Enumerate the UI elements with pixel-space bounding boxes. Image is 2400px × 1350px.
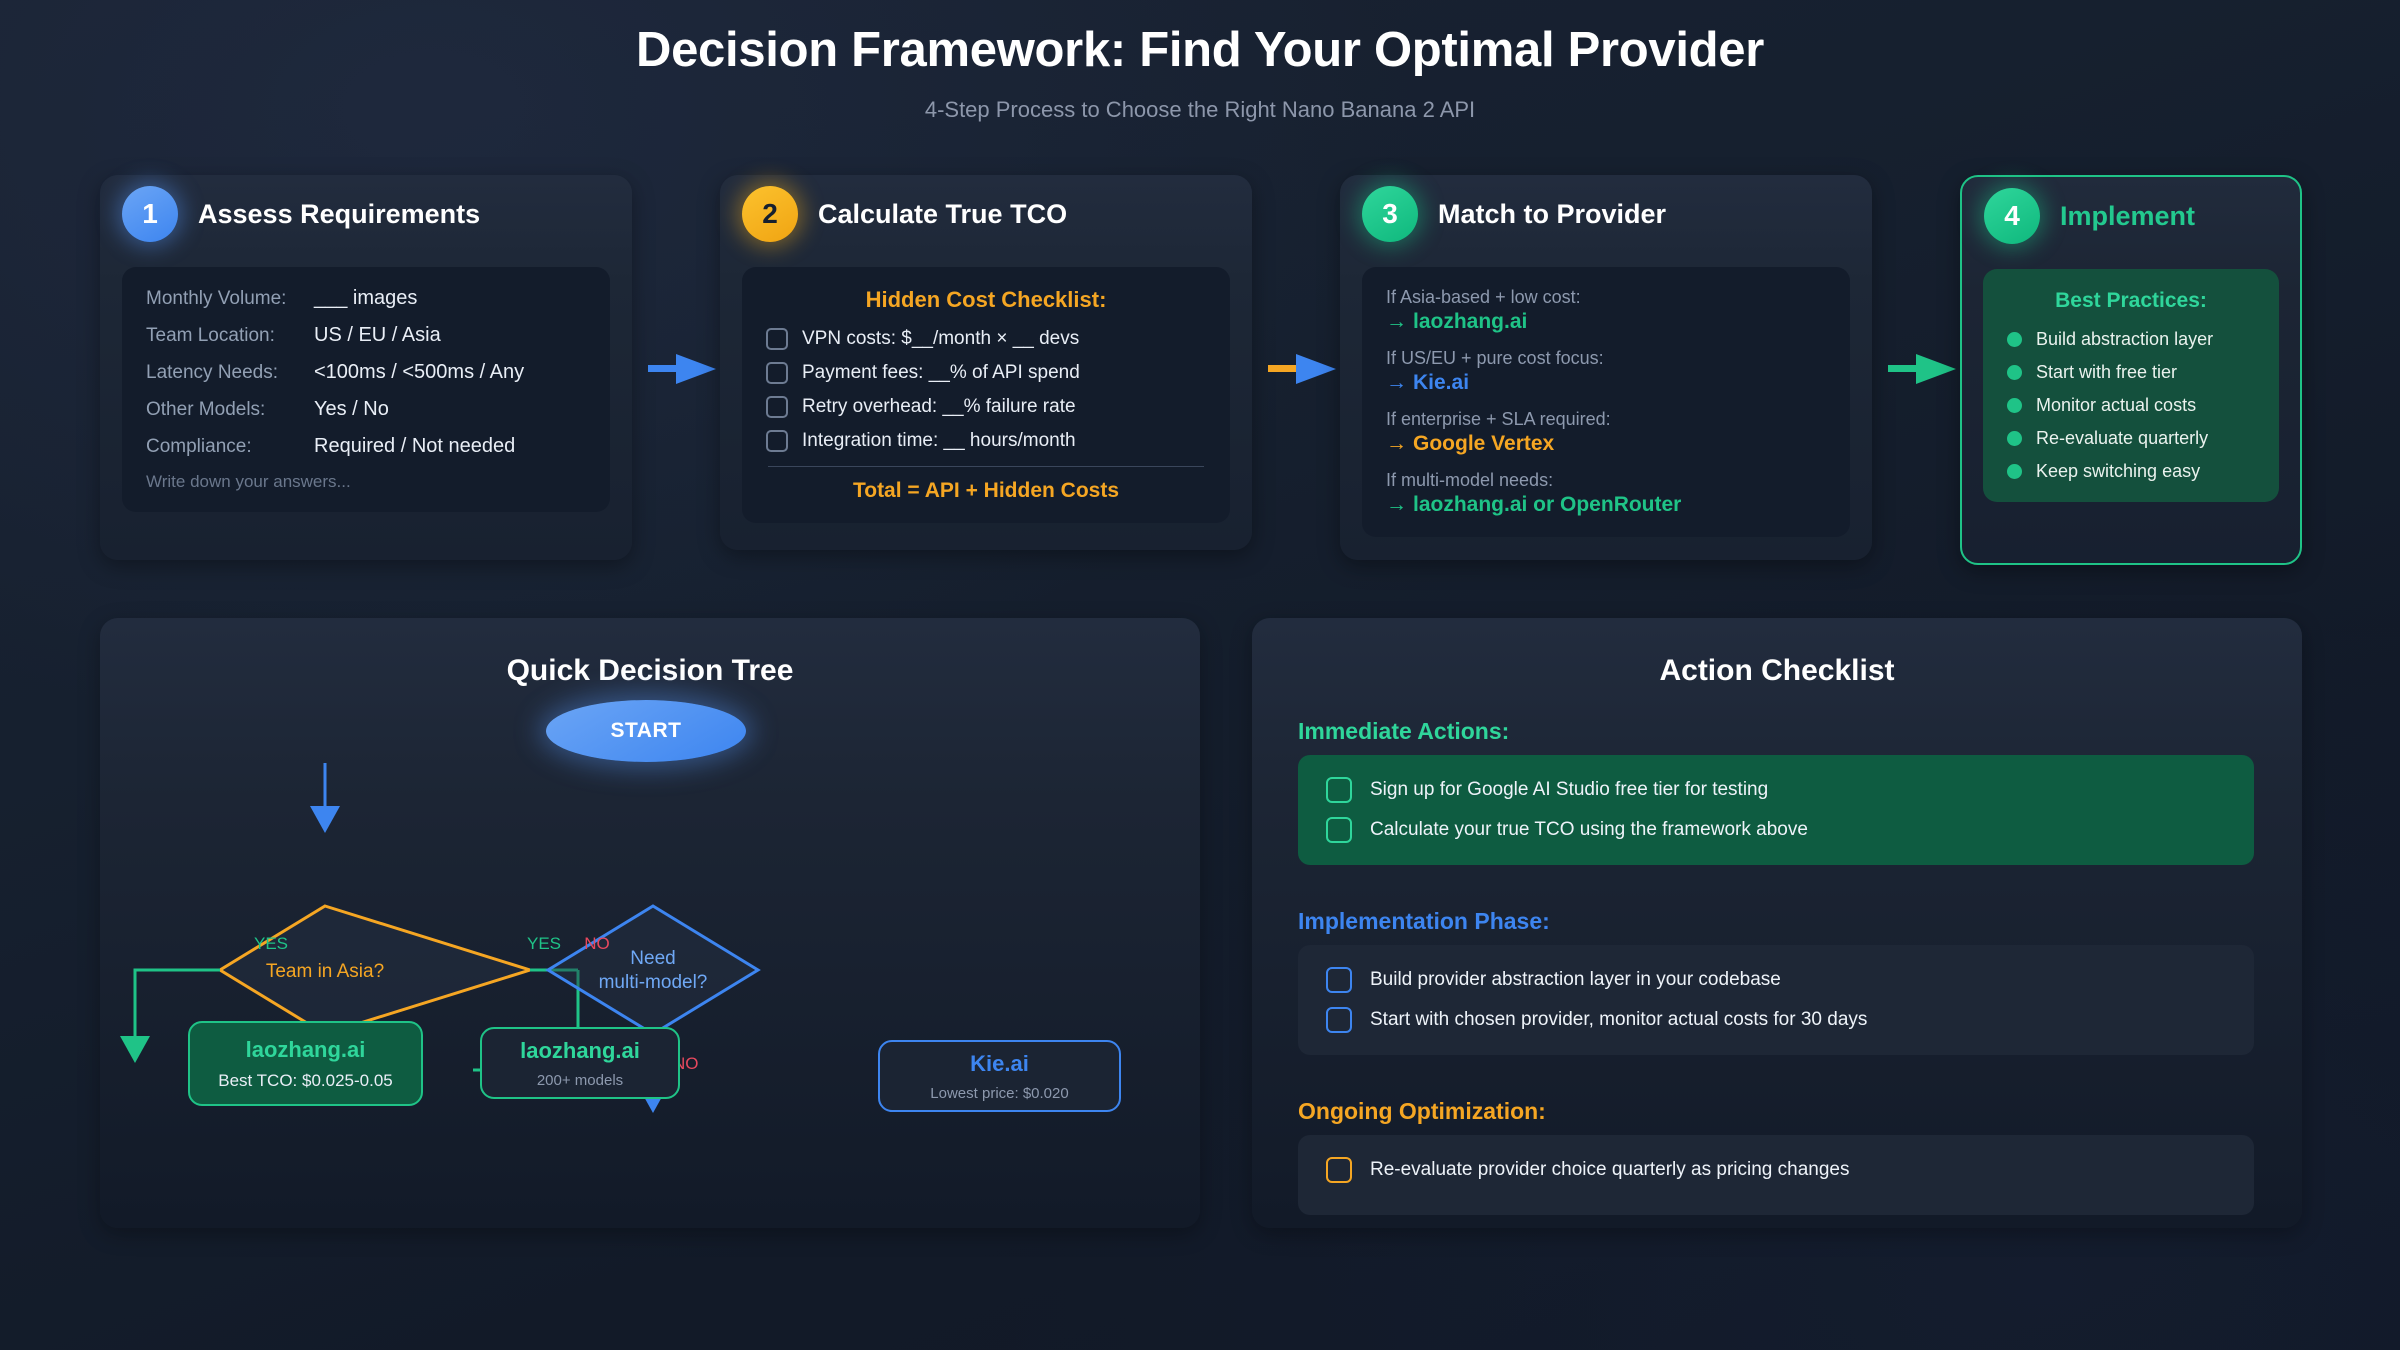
requirement-hint: Write down your answers... (146, 472, 586, 492)
match-result-label: laozhang.ai or OpenRouter (1413, 493, 1681, 516)
hidden-cost-item[interactable]: Retry overhead: __% failure rate (766, 396, 1206, 418)
arrow-right-icon: → (1386, 432, 1407, 455)
bullet-dot-icon (2007, 431, 2022, 446)
requirement-label: Monthly Volume: (146, 288, 314, 310)
step-title: Calculate True TCO (818, 199, 1067, 230)
requirement-value: Required / Not needed (314, 435, 515, 458)
hidden-cost-item[interactable]: Payment fees: __% of API spend (766, 362, 1206, 384)
requirement-value: <100ms / <500ms / Any (314, 361, 524, 384)
result-name: laozhang.ai (246, 1037, 366, 1063)
step-number-badge: 2 (742, 186, 798, 242)
checkbox-icon[interactable] (1326, 817, 1352, 843)
checklist-heading-immediate: Immediate Actions: (1298, 718, 1509, 745)
best-practice-label: Keep switching easy (2036, 461, 2200, 482)
best-practice-item: Re-evaluate quarterly (2007, 428, 2255, 449)
match-result-label: Google Vertex (1413, 432, 1554, 455)
tco-total-formula: Total = API + Hidden Costs (766, 479, 1206, 503)
edge-label-yes-left: YES (254, 934, 288, 953)
step-number-badge: 1 (122, 186, 178, 242)
match-condition: If enterprise + SLA required: (1386, 409, 1826, 430)
step-body: Best Practices: Build abstraction layer … (1983, 269, 2279, 502)
step-header: 3 Match to Provider (1340, 175, 1872, 253)
page-subtitle: 4-Step Process to Choose the Right Nano … (0, 97, 2400, 123)
edge-label-no-mid: NO (584, 934, 610, 953)
bullet-dot-icon (2007, 398, 2022, 413)
tree-result-laozhang-best-tco[interactable]: laozhang.ai Best TCO: $0.025-0.05 (188, 1021, 423, 1106)
best-practice-item: Start with free tier (2007, 362, 2255, 383)
best-practice-label: Build abstraction layer (2036, 329, 2213, 350)
step-title: Implement (2060, 201, 2195, 232)
arrow-right-icon: → (1386, 371, 1407, 394)
hidden-cost-label: Payment fees: __% of API spend (802, 362, 1080, 384)
checkbox-icon[interactable] (766, 362, 788, 384)
step-body: Hidden Cost Checklist: VPN costs: $__/mo… (742, 267, 1230, 523)
match-result-label: Kie.ai (1413, 371, 1469, 394)
checkbox-icon[interactable] (766, 396, 788, 418)
checkbox-icon[interactable] (766, 328, 788, 350)
tree-result-laozhang-multimodel[interactable]: laozhang.ai 200+ models (480, 1027, 680, 1099)
result-sub: Best TCO: $0.025-0.05 (218, 1071, 393, 1091)
match-condition: If Asia-based + low cost: (1386, 287, 1826, 308)
best-practices-title: Best Practices: (2007, 289, 2255, 313)
match-rule: If Asia-based + low cost: →laozhang.ai (1386, 287, 1826, 334)
checkbox-icon[interactable] (1326, 1157, 1352, 1183)
checklist-item-label: Build provider abstraction layer in your… (1370, 969, 1781, 991)
checkbox-icon[interactable] (1326, 1007, 1352, 1033)
best-practice-item: Monitor actual costs (2007, 395, 2255, 416)
step-card-assess-requirements[interactable]: 1 Assess Requirements Monthly Volume: __… (100, 175, 632, 560)
step-header: 4 Implement (1962, 177, 2300, 255)
requirement-value: US / EU / Asia (314, 324, 441, 347)
best-practice-label: Start with free tier (2036, 362, 2177, 383)
checklist-item-label: Calculate your true TCO using the framew… (1370, 819, 1808, 841)
requirement-label: Team Location: (146, 325, 314, 347)
checklist-item[interactable]: Build provider abstraction layer in your… (1326, 967, 2254, 993)
requirement-label: Latency Needs: (146, 362, 314, 384)
bullet-dot-icon (2007, 365, 2022, 380)
checklist-item[interactable]: Re-evaluate provider choice quarterly as… (1326, 1157, 2254, 1183)
step-body: Monthly Volume: ___ images Team Location… (122, 267, 610, 512)
checklist-item[interactable]: Sign up for Google AI Studio free tier f… (1326, 777, 2254, 803)
tree-result-kie-ai[interactable]: Kie.ai Lowest price: $0.020 (878, 1040, 1121, 1112)
match-result: →laozhang.ai (1386, 310, 1826, 334)
step-header: 1 Assess Requirements (100, 175, 632, 253)
step-title: Assess Requirements (198, 199, 480, 230)
match-result: →laozhang.ai or OpenRouter (1386, 493, 1826, 517)
requirement-value: Yes / No (314, 398, 389, 421)
checkbox-icon[interactable] (766, 430, 788, 452)
requirement-row: Team Location: US / EU / Asia (146, 324, 586, 347)
match-rule: If multi-model needs: →laozhang.ai or Op… (1386, 470, 1826, 517)
requirement-label: Compliance: (146, 436, 314, 458)
result-sub: 200+ models (537, 1072, 623, 1089)
step-header: 2 Calculate True TCO (720, 175, 1252, 253)
tree-node-start[interactable]: START (546, 700, 746, 762)
divider (768, 466, 1204, 467)
best-practice-label: Monitor actual costs (2036, 395, 2196, 416)
step-card-match-provider[interactable]: 3 Match to Provider If Asia-based + low … (1340, 175, 1872, 560)
best-practice-item: Build abstraction layer (2007, 329, 2255, 350)
step-title: Match to Provider (1438, 199, 1666, 230)
arrow-right-icon: → (1386, 493, 1407, 516)
match-result-label: laozhang.ai (1413, 310, 1527, 333)
step-number-badge: 3 (1362, 186, 1418, 242)
best-practice-label: Re-evaluate quarterly (2036, 428, 2208, 449)
result-sub: Lowest price: $0.020 (930, 1085, 1068, 1102)
checkbox-icon[interactable] (1326, 967, 1352, 993)
panel-title: Action Checklist (1252, 654, 2302, 688)
step-number-badge: 4 (1984, 188, 2040, 244)
checklist-group-immediate: Sign up for Google AI Studio free tier f… (1298, 755, 2254, 865)
requirement-row: Latency Needs: <100ms / <500ms / Any (146, 361, 586, 384)
checklist-item[interactable]: Calculate your true TCO using the framew… (1326, 817, 2254, 843)
page-title: Decision Framework: Find Your Optimal Pr… (0, 22, 2400, 78)
hidden-cost-item[interactable]: VPN costs: $__/month × __ devs (766, 328, 1206, 350)
step-body: If Asia-based + low cost: →laozhang.ai I… (1362, 267, 1850, 537)
flow-arrow-1 (648, 352, 720, 386)
hidden-cost-label: Integration time: __ hours/month (802, 430, 1076, 452)
requirement-row: Other Models: Yes / No (146, 398, 586, 421)
match-result: →Kie.ai (1386, 371, 1826, 395)
flow-arrow-3 (1888, 352, 1960, 386)
edge-label-yes-mid: YES (527, 934, 561, 953)
match-rule: If enterprise + SLA required: →Google Ve… (1386, 409, 1826, 456)
requirement-label: Other Models: (146, 399, 314, 421)
checkbox-icon[interactable] (1326, 777, 1352, 803)
hidden-cost-label: Retry overhead: __% failure rate (802, 396, 1076, 418)
match-result: →Google Vertex (1386, 432, 1826, 456)
match-condition: If multi-model needs: (1386, 470, 1826, 491)
requirement-row: Compliance: Required / Not needed (146, 435, 586, 458)
result-name: laozhang.ai (520, 1038, 640, 1064)
hidden-cost-label: VPN costs: $__/month × __ devs (802, 328, 1079, 350)
checklist-heading-implementation: Implementation Phase: (1298, 908, 1550, 935)
best-practice-item: Keep switching easy (2007, 461, 2255, 482)
match-condition: If US/EU + pure cost focus: (1386, 348, 1826, 369)
step-card-calculate-tco[interactable]: 2 Calculate True TCO Hidden Cost Checkli… (720, 175, 1252, 550)
bullet-dot-icon (2007, 332, 2022, 347)
step-card-implement[interactable]: 4 Implement Best Practices: Build abstra… (1960, 175, 2302, 565)
checklist-item[interactable]: Start with chosen provider, monitor actu… (1326, 1007, 2254, 1033)
flow-arrow-2 (1268, 352, 1340, 386)
requirement-value: ___ images (314, 287, 417, 310)
arrow-right-icon: → (1386, 310, 1407, 333)
hidden-cost-checklist-title: Hidden Cost Checklist: (766, 287, 1206, 313)
match-rule: If US/EU + pure cost focus: →Kie.ai (1386, 348, 1826, 395)
infographic-root: Decision Framework: Find Your Optimal Pr… (0, 0, 2400, 1350)
checklist-group-implementation: Build provider abstraction layer in your… (1298, 945, 2254, 1055)
requirement-row: Monthly Volume: ___ images (146, 287, 586, 310)
checklist-item-label: Start with chosen provider, monitor actu… (1370, 1009, 1867, 1031)
checklist-group-ongoing: Re-evaluate provider choice quarterly as… (1298, 1135, 2254, 1215)
bullet-dot-icon (2007, 464, 2022, 479)
hidden-cost-item[interactable]: Integration time: __ hours/month (766, 430, 1206, 452)
checklist-item-label: Sign up for Google AI Studio free tier f… (1370, 779, 1768, 801)
result-name: Kie.ai (970, 1051, 1029, 1077)
checklist-heading-ongoing: Ongoing Optimization: (1298, 1098, 1546, 1125)
checklist-item-label: Re-evaluate provider choice quarterly as… (1370, 1159, 1849, 1181)
